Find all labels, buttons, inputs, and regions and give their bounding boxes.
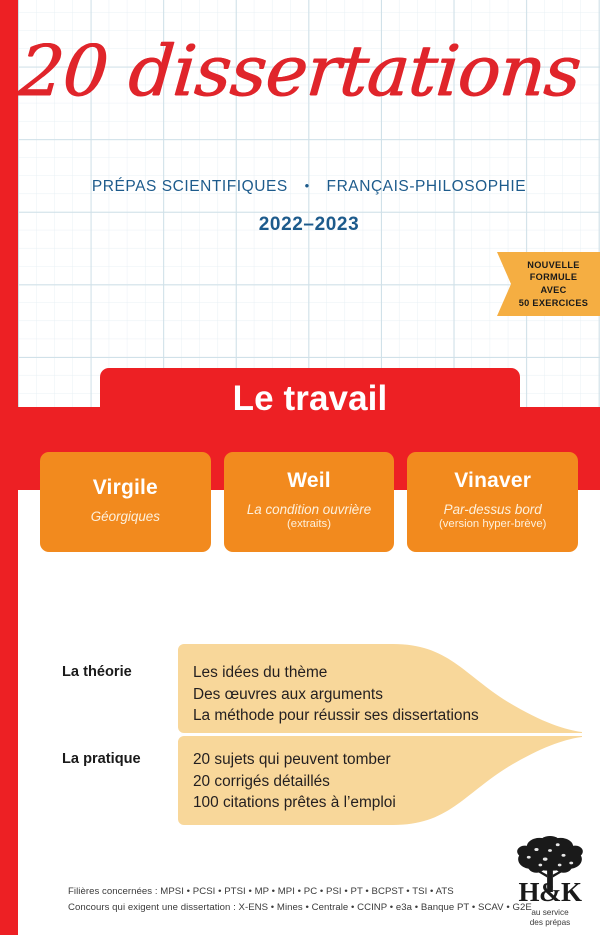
- author-work-note: (extraits): [287, 517, 331, 531]
- school-year: 2022–2023: [18, 214, 600, 236]
- publisher-name: H&K: [519, 879, 582, 905]
- badge-line-1: NOUVELLE: [527, 259, 579, 272]
- section-label-practice: La pratique: [62, 751, 141, 767]
- footer-exams-line: Concours qui exigent une dissertation : …: [68, 900, 498, 916]
- author-name: Vinaver: [454, 469, 531, 493]
- author-work: Géorgiques: [91, 509, 160, 524]
- badge-line-3: AVEC: [540, 284, 566, 297]
- theme-title: Le travail: [100, 379, 520, 419]
- author-card-list: Virgile Géorgiques Weil La condition ouv…: [40, 452, 578, 552]
- book-cover: 20 dissertations PRÉPAS SCIENTIFIQUES • …: [0, 0, 600, 935]
- subtitle: PRÉPAS SCIENTIFIQUES • FRANÇAIS-PHILOSOP…: [18, 178, 600, 196]
- subtitle-separator-dot: •: [293, 178, 322, 193]
- subtitle-left: PRÉPAS SCIENTIFIQUES: [92, 178, 288, 195]
- practice-bullet: 100 citations prêtes à l’emploi: [193, 792, 396, 814]
- author-work: Par-dessus bord: [444, 502, 542, 517]
- theory-bullet: Des œuvres aux arguments: [193, 684, 479, 706]
- author-card: Weil La condition ouvrière (extraits): [224, 452, 395, 552]
- publisher-tagline-line-1: au service: [530, 908, 571, 918]
- author-work: La condition ouvrière: [247, 502, 371, 517]
- footer-info: Filières concernées : MPSI • PCSI • PTSI…: [68, 884, 498, 915]
- practice-bullet: 20 sujets qui peuvent tomber: [193, 749, 396, 771]
- publisher-tagline: au service des prépas: [530, 908, 571, 928]
- publisher-tagline-line-2: des prépas: [530, 918, 571, 928]
- author-card: Vinaver Par-dessus bord (version hyper-b…: [407, 452, 578, 552]
- publisher-logo: H&K au service des prépas: [508, 836, 592, 928]
- author-work-note: (version hyper-brève): [439, 517, 546, 531]
- theory-bullet-list: Les idées du thème Des œuvres aux argume…: [193, 662, 479, 727]
- practice-bullet: 20 corrigés détaillés: [193, 771, 396, 793]
- section-label-theory: La théorie: [62, 664, 132, 680]
- badge-line-4: 50 EXERCICES: [519, 297, 588, 310]
- badge-line-2: FORMULE: [530, 271, 578, 284]
- author-card: Virgile Géorgiques: [40, 452, 211, 552]
- theory-bullet: La méthode pour réussir ses dissertation…: [193, 705, 479, 727]
- page-title: 20 dissertations: [0, 36, 600, 106]
- footer-tracks-line: Filières concernées : MPSI • PCSI • PTSI…: [68, 884, 498, 900]
- nouvelle-formule-badge: NOUVELLE FORMULE AVEC 50 EXERCICES: [497, 252, 600, 316]
- red-spine-strip: [0, 0, 18, 935]
- author-name: Virgile: [93, 476, 158, 500]
- author-name: Weil: [287, 469, 331, 493]
- subtitle-right: FRANÇAIS-PHILOSOPHIE: [327, 178, 527, 195]
- theory-bullet: Les idées du thème: [193, 662, 479, 684]
- practice-bullet-list: 20 sujets qui peuvent tomber 20 corrigés…: [193, 749, 396, 814]
